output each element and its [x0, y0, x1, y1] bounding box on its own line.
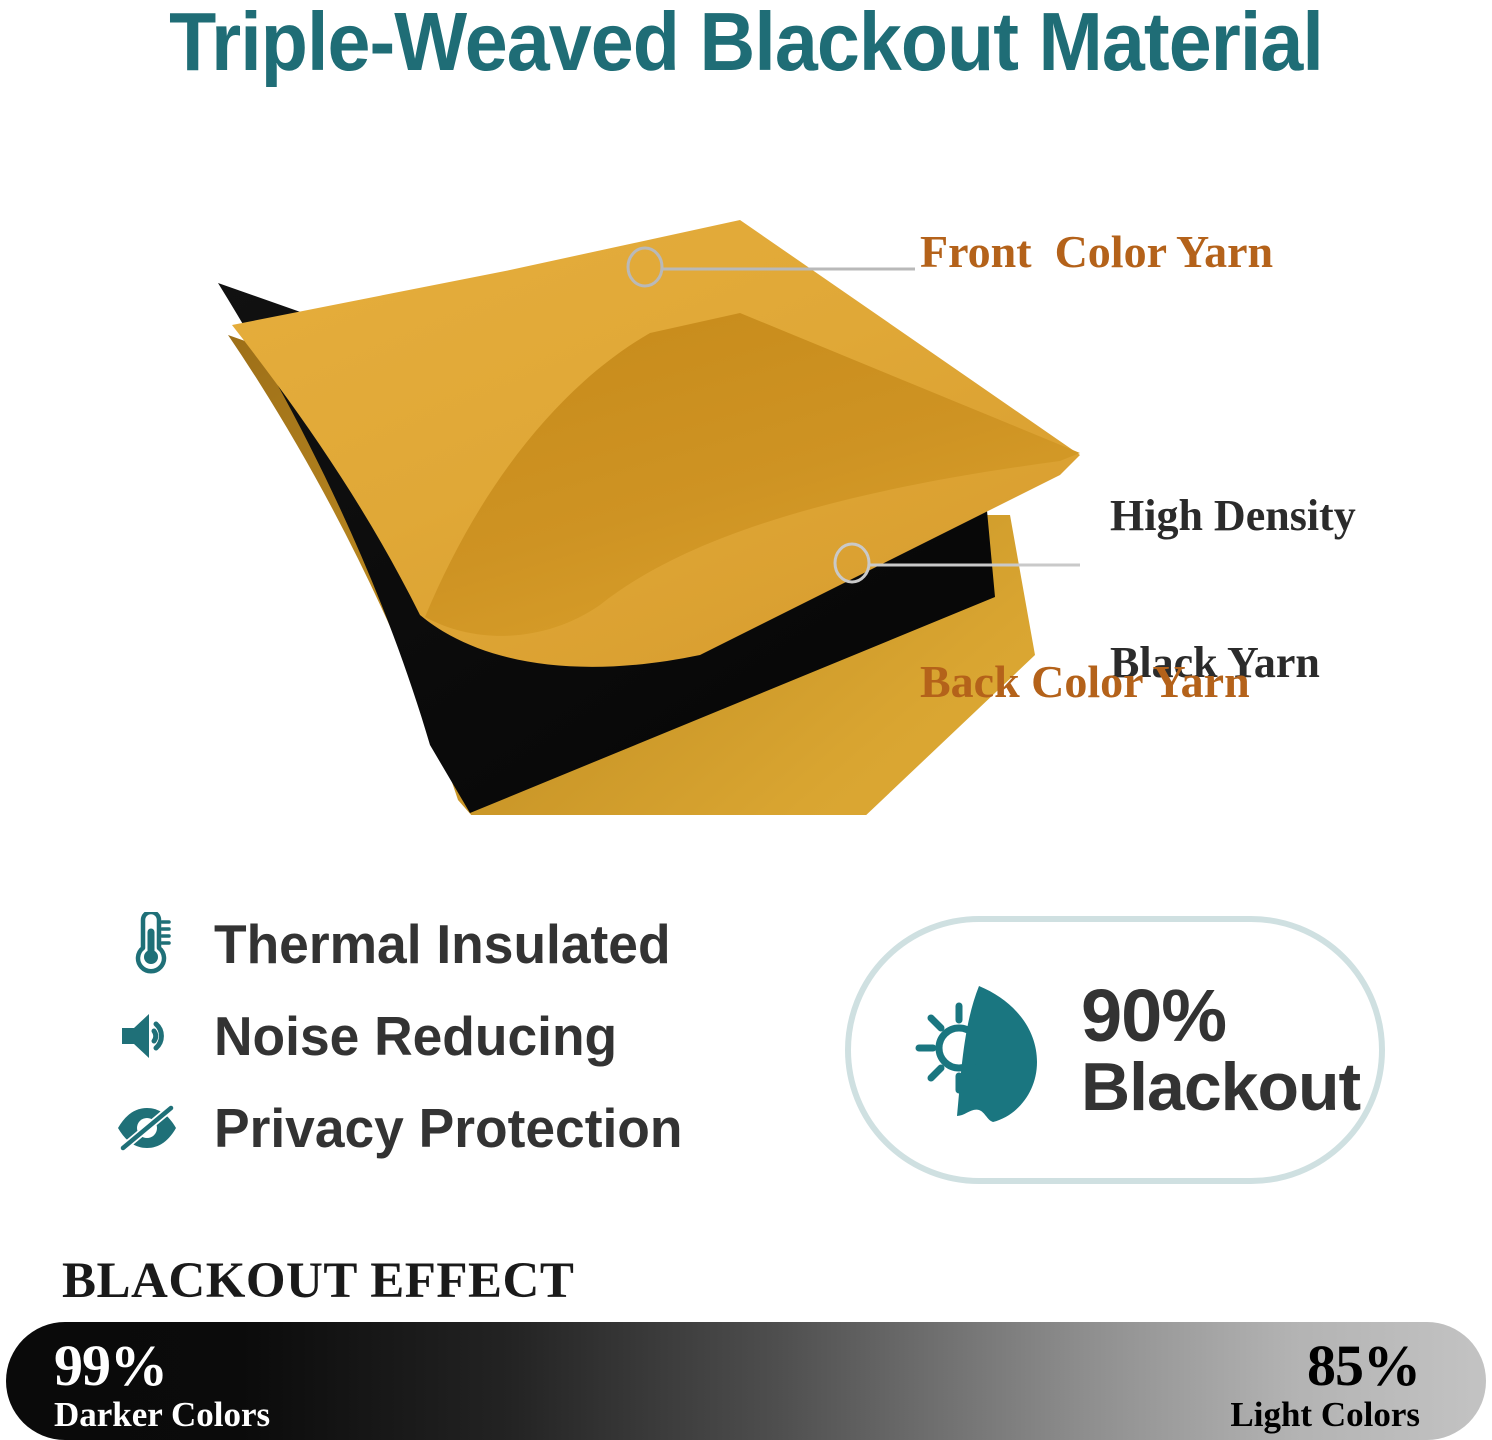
stat-percentage: 85%: [1230, 1337, 1420, 1395]
callout-label-back-color-yarn: Back Color Yarn: [920, 656, 1250, 708]
feature-label: Thermal Insulated: [214, 912, 671, 976]
blackout-label: Blackout: [1081, 1049, 1360, 1125]
callout-label-line1: High Density: [1110, 491, 1356, 540]
feature-item-noise-reducing: Noise Reducing: [112, 990, 812, 1082]
blackout-effect-heading: BLACKOUT EFFECT: [62, 1252, 574, 1310]
feature-item-thermal-insulated: Thermal Insulated: [112, 898, 812, 990]
stat-caption: Light Colors: [1230, 1397, 1420, 1432]
thermometer-icon: [112, 909, 182, 979]
eye-slash-icon: [112, 1093, 182, 1163]
blackout-stat-darker-colors: 99% Darker Colors: [54, 1337, 270, 1432]
page-title: Triple-Weaved Blackout Material: [52, 0, 1440, 90]
speaker-icon: [112, 1001, 182, 1071]
fabric-layers-illustration: [180, 185, 1080, 815]
callout-label-front-color-yarn: Front Color Yarn: [920, 226, 1273, 278]
stat-caption: Darker Colors: [54, 1397, 270, 1432]
sun-blocked-icon: [901, 970, 1051, 1130]
blackout-stat-light-colors: 85% Light Colors: [1230, 1337, 1420, 1432]
blackout-percentage: 90%: [1081, 974, 1226, 1057]
blackout-badge-text: 90% Blackout: [1081, 978, 1379, 1123]
feature-label: Noise Reducing: [214, 1004, 617, 1068]
stat-percentage: 99%: [54, 1337, 270, 1395]
feature-list: Thermal Insulated Noise Reducing Privacy…: [112, 898, 812, 1174]
feature-item-privacy-protection: Privacy Protection: [112, 1082, 812, 1174]
feature-label: Privacy Protection: [214, 1096, 682, 1160]
blackout-percentage-badge: 90% Blackout: [845, 916, 1385, 1184]
